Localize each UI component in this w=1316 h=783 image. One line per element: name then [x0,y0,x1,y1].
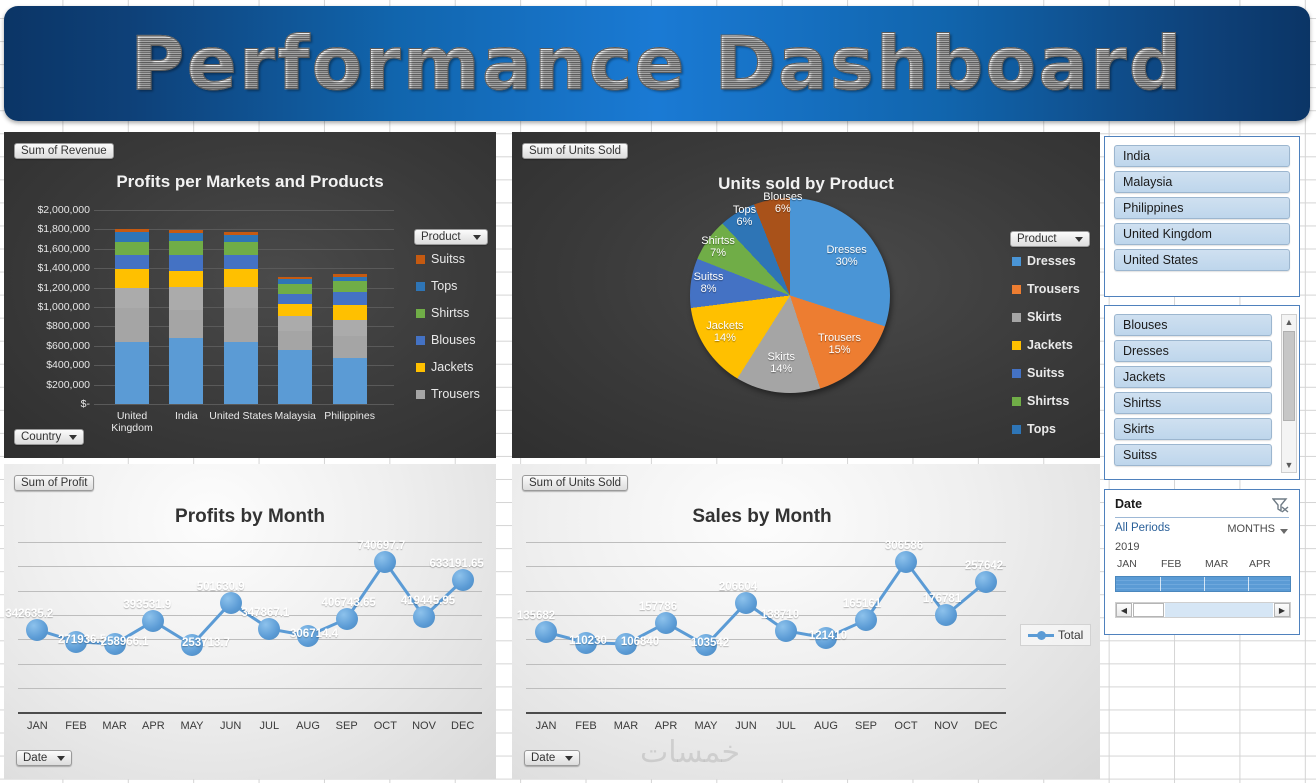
bar-chart-title: Profits per Markets and Products [4,172,496,192]
data-label: 258966.1 [101,636,149,648]
legend-swatch [1012,341,1021,350]
line-series [526,542,1006,712]
slicer-item[interactable]: Shirtss [1114,392,1272,414]
data-label: 740697.7 [357,540,405,552]
data-point[interactable] [775,620,797,642]
bar-segment [169,338,203,404]
bar-segment [115,308,149,342]
timeline-scrollbar[interactable]: ◀ ▶ [1115,602,1291,618]
dashboard-title-banner: Performance Dashboard [4,6,1310,121]
line-marker-icon [1028,634,1054,637]
pie-slice-name: Dresses [819,244,875,256]
timeline-month-label[interactable]: MAR [1205,558,1228,570]
x-axis [18,712,482,714]
x-axis-tick: AUG [296,720,320,732]
x-axis-tick: MAY [694,720,717,732]
legend-swatch [1012,397,1021,406]
pie-slice-name: Skirts [753,351,809,363]
x-axis-tick: JUL [776,720,796,732]
data-label: 257642 [965,560,1003,572]
x-axis-tick: APR [655,720,678,732]
x-axis-tick: JUN [735,720,756,732]
chevron-down-icon [69,435,77,440]
legend-label: Suitss [431,252,465,266]
bar-column[interactable] [169,230,203,404]
bar-column[interactable] [333,274,367,404]
product-slicer[interactable]: BlousesDressesJacketsShirtssSkirtsSuitss… [1104,305,1300,480]
scrollbar-thumb[interactable] [1133,603,1164,617]
bar-chart-plot-area: $2,000,000$1,800,000$1,600,000$1,400,000… [94,210,394,404]
divider [1115,517,1289,518]
page-title: Performance Dashboard [130,21,1183,107]
data-point[interactable] [535,621,557,643]
data-label: 253713.7 [182,637,230,649]
slicer-item[interactable]: Jackets [1114,366,1272,388]
x-axis-tick: SEP [855,720,877,732]
product-slicer-scrollbar[interactable]: ▲ ▼ [1281,314,1297,473]
pie-chart-legend: DressesTrousersSkirtsJacketsSuitssShirts… [1012,254,1080,436]
data-point[interactable] [735,592,757,614]
bar-segment [224,287,258,308]
legend-label: Shirtss [1027,394,1069,408]
chevron-down-icon[interactable] [1280,529,1288,534]
pivot-field-sum-of-units-sold-pie[interactable]: Sum of Units Sold [522,143,628,159]
slicer-item[interactable]: Blouses [1114,314,1272,336]
legend-label: Jackets [1027,338,1073,352]
y-axis-tick: $1,800,000 [37,223,90,235]
bar-segment [278,316,312,331]
profits-by-month-chart[interactable]: Sum of Profit Profits by Month 342635.2J… [4,464,496,779]
x-axis-tick: FEB [65,720,86,732]
country-slicer-items[interactable]: IndiaMalaysiaPhilippinesUnited KingdomUn… [1114,145,1290,271]
pie-data-label: Shirtss7% [690,235,746,259]
triangle-right-icon[interactable]: ▶ [1274,603,1290,617]
legend-swatch [1012,425,1021,434]
y-axis-tick: $2,000,000 [37,204,90,216]
legend-item: Trousers [416,387,480,401]
x-axis-tick: NOV [934,720,958,732]
legend-swatch [1012,285,1021,294]
pie-slice-name: Blouses [755,191,811,203]
data-label: 157786 [639,601,677,613]
data-label: 633191.65 [429,558,483,570]
x-axis-tick: Philippines [317,410,383,422]
data-label: 121410 [809,630,847,642]
bar-column[interactable] [115,229,149,404]
x-axis-tick: JUN [220,720,241,732]
bar-segment [224,308,258,342]
data-label: 406743.65 [321,597,375,609]
x-axis-tick: OCT [374,720,397,732]
pie-data-label: Trousers15% [811,332,867,356]
data-label: 165161 [843,598,881,610]
legend-item: Tops [416,279,480,293]
triangle-left-icon[interactable]: ◀ [1116,603,1132,617]
y-axis-tick: $400,000 [46,359,90,371]
x-axis-tick: DEC [451,720,474,732]
legend-label: Trousers [431,387,480,401]
scrollbar-track[interactable] [1165,603,1273,617]
data-label: 176781 [923,593,961,605]
bar-segment [169,271,203,287]
bar-segment [333,320,367,336]
pie-data-label: Suitss8% [681,271,737,295]
units-sold-by-product-chart[interactable]: Sum of Units Sold Units sold by Product … [512,132,1100,458]
sales-plot-area: 135682JAN110230FEB106840MAR157786APR1035… [526,542,1006,712]
timeline-year-label: 2019 [1115,541,1139,553]
legend-field-product-bar[interactable]: Product [414,229,488,245]
bar-segment [333,305,367,320]
legend-swatch [1012,313,1021,322]
data-point[interactable] [895,551,917,573]
bar-segment [278,304,312,317]
legend-item: Jackets [416,360,480,374]
data-label: 347867.1 [241,607,289,619]
x-axis-tick: OCT [894,720,917,732]
legend-label: Shirtss [431,306,469,320]
data-point[interactable] [413,606,435,628]
bar-column[interactable] [224,232,258,404]
legend-label: Skirts [1027,310,1062,324]
slicer-item[interactable]: Skirts [1114,418,1272,440]
pie-slice-value: 30% [819,256,875,268]
chevron-down-icon [1075,237,1083,242]
data-point[interactable] [855,609,877,631]
legend-swatch [416,309,425,318]
legend-swatch [1012,257,1021,266]
y-axis-tick: $1,400,000 [37,262,90,274]
bar-segment [278,350,312,404]
y-axis-tick: $1,000,000 [37,301,90,313]
legend-label-total: Total [1058,628,1083,642]
timeline-selection-bar[interactable] [1115,576,1291,592]
legend-label: Trousers [1027,282,1080,296]
legend-swatch [416,255,425,264]
data-point[interactable] [336,608,358,630]
slicer-item[interactable]: Dresses [1114,340,1272,362]
x-axis-tick: DEC [974,720,997,732]
scrollbar-thumb[interactable] [1283,331,1295,421]
pivot-field-sum-of-units-sold-line[interactable]: Sum of Units Sold [522,475,628,491]
legend-item: Shirtss [1012,394,1080,408]
legend-swatch [416,336,425,345]
timeline-period-label: All Periods [1115,522,1170,534]
bar-chart-legend: SuitssTopsShirtssBlousesJacketsTrousers [416,252,480,401]
legend-field-product-pie[interactable]: Product [1010,231,1090,247]
timeline-month-label[interactable]: APR [1249,558,1271,570]
pie-data-label: Jackets14% [697,320,753,344]
profit-plot-area: 342635.2JAN271936.5FEB258966.1MAR393531.… [18,542,482,712]
data-label: 206604 [719,581,757,593]
data-label: 106840 [621,636,659,648]
data-label: 110230 [569,635,607,647]
legend-item: Suitss [1012,366,1080,380]
data-label: 501630.9 [197,581,245,593]
sales-chart-title: Sales by Month [512,506,1012,528]
bar-segment [224,235,258,242]
bar-column[interactable] [278,277,312,405]
y-axis-tick: $1,600,000 [37,243,90,255]
data-point[interactable] [975,571,997,593]
slicer-item[interactable]: United States [1114,249,1290,271]
legend-label: Jackets [431,360,473,374]
y-axis-tick: $200,000 [46,379,90,391]
data-point[interactable] [655,612,677,634]
chevron-down-icon [473,235,481,240]
data-point[interactable] [374,551,396,573]
data-point[interactable] [220,592,242,614]
date-timeline-slicer[interactable]: Date All Periods MONTHS 2019 JANFEBMARAP… [1104,489,1300,635]
x-axis-tick: JAN [536,720,557,732]
y-axis-tick: $- [81,398,90,410]
pivot-field-sum-of-revenue[interactable]: Sum of Revenue [14,143,114,159]
bar-segment [333,292,367,305]
data-label: 271936.5 [58,634,106,646]
pie-data-label: Skirts14% [753,351,809,375]
bar-segment [169,255,203,271]
bar-segment [224,242,258,255]
bar-segment [169,241,203,256]
legend-label: Tops [431,279,457,293]
data-label: 393531.9 [123,599,171,611]
legend-item: Tops [1012,422,1080,436]
pie-slice-value: 14% [753,363,809,375]
pie-data-label: Blouses6% [755,191,811,215]
clear-filter-icon[interactable] [1272,498,1289,513]
product-slicer-items[interactable]: BlousesDressesJacketsShirtssSkirtsSuitss [1114,314,1272,466]
legend-swatch [416,363,425,372]
data-label: 138710 [761,609,799,621]
filter-field-date-sales[interactable]: Date [524,750,580,766]
bar-segment [278,331,312,350]
bar-segment [278,294,312,304]
legend-item: Jackets [1012,338,1080,352]
x-axis [526,712,1006,714]
filter-field-date-profit[interactable]: Date [16,750,72,766]
x-axis-tick: JUL [260,720,280,732]
pie-slice-value: 6% [755,203,811,215]
sales-chart-legend: Total [1020,624,1091,646]
watermark: خمسات [640,735,740,770]
chevron-down-icon[interactable]: ▼ [1282,458,1296,472]
pie-slice-name: Shirtss [690,235,746,247]
data-label: 306586 [885,540,923,552]
profit-chart-title: Profits by Month [4,506,496,528]
data-label: 103542 [691,637,729,649]
bar-segment [224,255,258,269]
x-axis-tick: SEP [336,720,358,732]
legend-label: Suitss [1027,366,1065,380]
data-point[interactable] [26,619,48,641]
legend-item: Dresses [1012,254,1080,268]
data-label: 419445.95 [401,595,455,607]
country-slicer[interactable]: IndiaMalaysiaPhilippinesUnited KingdomUn… [1104,136,1300,297]
bar-segment [278,284,312,294]
line-series [18,542,482,712]
bar-segment [333,358,367,404]
legend-item: Suitss [416,252,480,266]
data-label: 306714.4 [290,628,338,640]
data-point[interactable] [142,610,164,632]
legend-swatch [1012,369,1021,378]
x-axis-tick: MAR [102,720,126,732]
pie-slice-value: 15% [811,344,867,356]
bar-segment [333,281,367,292]
chevron-up-icon[interactable]: ▲ [1282,315,1296,329]
slicer-item[interactable]: Philippines [1114,197,1290,219]
data-label: 135682 [517,610,555,622]
x-axis-tick: MAR [614,720,638,732]
bar-segment [115,255,149,269]
slicer-item[interactable]: Malaysia [1114,171,1290,193]
legend-item: Shirtss [416,306,480,320]
bar-segment [224,269,258,287]
x-axis-tick: APR [142,720,165,732]
chevron-down-icon [57,756,65,761]
x-axis-tick: JAN [27,720,48,732]
bar-segment [169,287,203,310]
y-axis-tick: $1,200,000 [37,282,90,294]
legend-label: Dresses [1027,254,1076,268]
pie-slice-name: Trousers [811,332,867,344]
slicer-item[interactable]: Suitss [1114,444,1272,466]
pie-data-label: Dresses30% [819,244,875,268]
pie-slice-value: 8% [681,283,737,295]
pie-slice-value: 14% [697,332,753,344]
legend-item: Trousers [1012,282,1080,296]
legend-label: Blouses [431,333,475,347]
data-label: 342635.2 [5,608,53,620]
y-axis-tick: $800,000 [46,320,90,332]
bar-segment [169,233,203,240]
legend-swatch [416,282,425,291]
pie-slice-value: 7% [690,247,746,259]
bar-segment [115,232,149,241]
x-axis-tick: NOV [412,720,436,732]
bar-segment [115,342,149,404]
sales-by-month-chart[interactable]: Sum of Units Sold Sales by Month 135682J… [512,464,1100,779]
slicer-item[interactable]: India [1114,145,1290,167]
legend-item: Blouses [416,333,480,347]
y-axis-tick: $600,000 [46,340,90,352]
timeline-level-label[interactable]: MONTHS [1227,523,1275,535]
gridline [94,210,394,211]
chevron-down-icon [565,756,573,761]
x-axis-tick: FEB [575,720,596,732]
bar-segment [115,242,149,255]
pie-slice-name: Suitss [681,271,737,283]
slicer-item[interactable]: United Kingdom [1114,223,1290,245]
bar-segment [115,269,149,288]
gridline [94,404,394,405]
data-point[interactable] [452,569,474,591]
data-point[interactable] [935,604,957,626]
timeline-month-label[interactable]: FEB [1161,558,1181,570]
bar-segment [169,310,203,338]
x-axis-tick: MAY [180,720,203,732]
legend-item: Skirts [1012,310,1080,324]
profits-per-markets-chart[interactable]: Sum of Revenue Profits per Markets and P… [4,132,496,458]
timeline-header: Date [1115,497,1142,511]
data-point[interactable] [258,618,280,640]
pie-slice-name: Jackets [697,320,753,332]
timeline-month-label[interactable]: JAN [1117,558,1137,570]
filter-field-country[interactable]: Country [14,429,84,445]
pivot-field-sum-of-profit[interactable]: Sum of Profit [14,475,94,491]
legend-label: Tops [1027,422,1056,436]
bar-segment [115,288,149,308]
bar-segment [224,342,258,404]
bar-segment [333,336,367,359]
legend-swatch [416,390,425,399]
x-axis-tick: AUG [814,720,838,732]
pie-slice-value: 6% [716,216,772,228]
